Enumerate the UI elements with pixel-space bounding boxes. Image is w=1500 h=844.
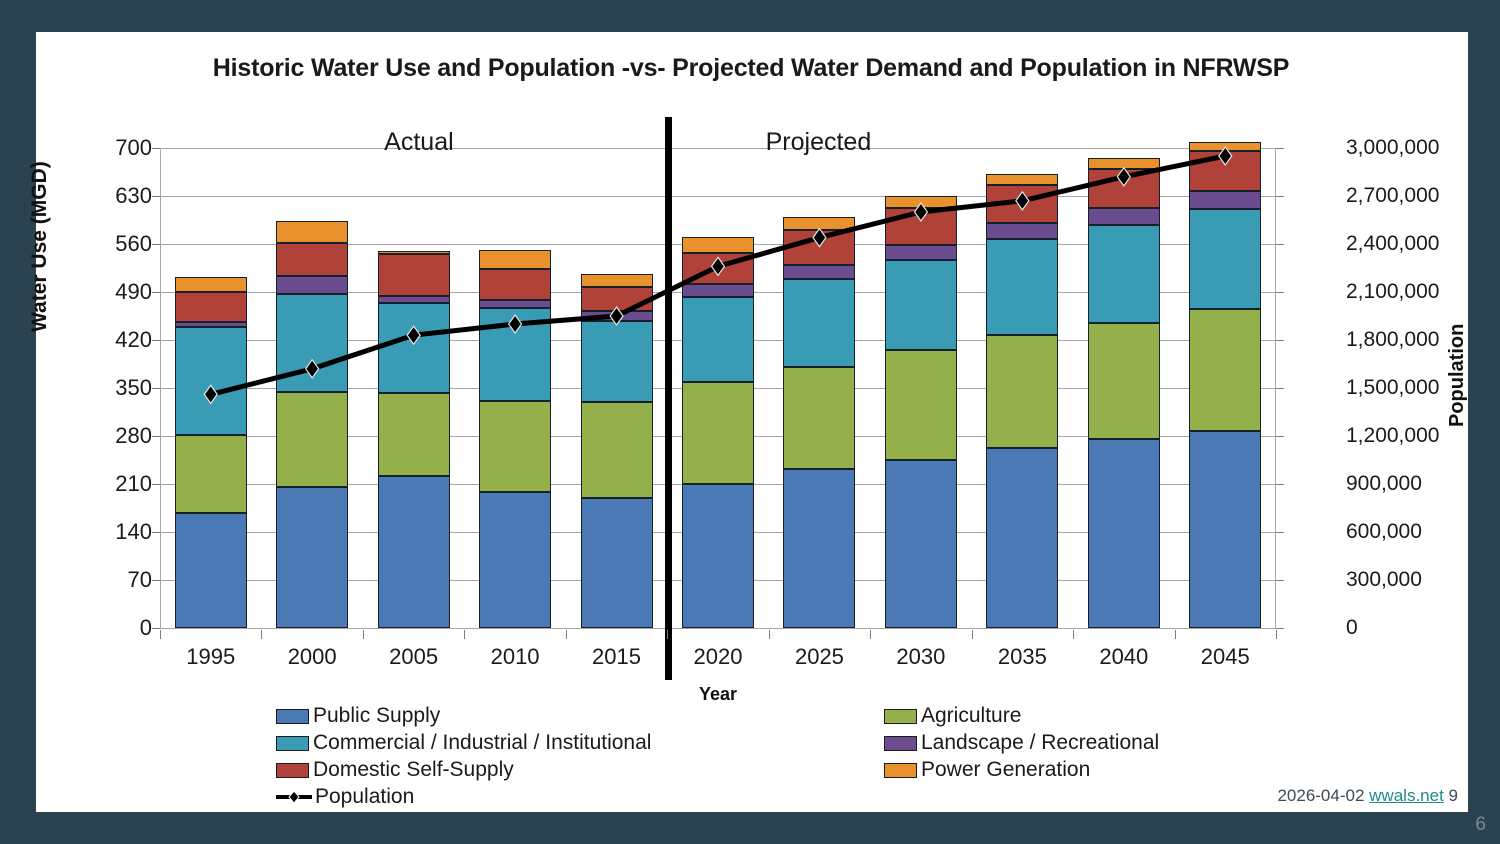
y2-tick-mark xyxy=(1276,292,1284,293)
y2-tick-mark xyxy=(1276,580,1284,581)
y-tick-label: 0 xyxy=(140,615,152,641)
population-marker xyxy=(306,360,319,378)
y2-tick-label: 1,500,000 xyxy=(1346,376,1439,400)
x-tick-label: 2025 xyxy=(795,644,844,670)
y2-tick-mark xyxy=(1276,436,1284,437)
legend-item[interactable]: Power Generation xyxy=(884,758,1090,782)
band-label-projected: Projected xyxy=(766,128,872,157)
y2-tick-mark xyxy=(1276,628,1284,629)
y2-tick-mark xyxy=(1276,340,1284,341)
y2-tick-label: 900,000 xyxy=(1346,472,1422,496)
y2-tick-mark xyxy=(1276,148,1284,149)
legend-swatch-icon xyxy=(276,736,309,751)
population-marker xyxy=(813,229,826,247)
legend-label: Agriculture xyxy=(921,704,1021,728)
x-tick-label: 2045 xyxy=(1201,644,1250,670)
legend-item[interactable]: Public Supply xyxy=(276,704,440,728)
y-tick-mark xyxy=(152,388,160,389)
population-marker xyxy=(712,257,725,275)
y2-tick-mark xyxy=(1276,196,1284,197)
y-tick-mark xyxy=(152,484,160,485)
y-tick-label: 420 xyxy=(115,327,152,353)
y2-tick-label: 1,800,000 xyxy=(1346,328,1439,352)
legend-swatch-icon xyxy=(276,763,309,778)
x-tick-label: 2040 xyxy=(1099,644,1148,670)
x-tick-mark xyxy=(769,630,770,639)
x-tick-mark xyxy=(667,630,668,639)
population-marker xyxy=(204,385,217,403)
population-marker xyxy=(407,326,420,344)
x-tick-mark xyxy=(870,630,871,639)
legend-label: Population xyxy=(315,785,414,809)
y2-tick-mark xyxy=(1276,484,1284,485)
population-line xyxy=(160,148,1276,628)
y-axis-left-ticks: 070140210280350420490560630700 xyxy=(82,148,152,628)
legend-swatch-icon xyxy=(884,736,917,751)
x-tick-mark xyxy=(464,630,465,639)
y-tick-mark xyxy=(152,244,160,245)
y2-tick-mark xyxy=(1276,532,1284,533)
y-tick-label: 630 xyxy=(115,183,152,209)
actual-projected-divider xyxy=(665,117,672,680)
x-tick-label: 2035 xyxy=(998,644,1047,670)
y2-tick-mark xyxy=(1276,244,1284,245)
legend-swatch-icon xyxy=(276,709,309,724)
legend-swatch-icon xyxy=(884,763,917,778)
y-tick-mark xyxy=(152,628,160,629)
x-tick-mark xyxy=(1073,630,1074,639)
y-tick-mark xyxy=(152,196,160,197)
population-marker xyxy=(1219,147,1232,165)
x-tick-label: 2005 xyxy=(389,644,438,670)
y-axis-title: Water Use (MGD) xyxy=(28,161,52,332)
legend-item[interactable]: Population xyxy=(276,785,414,809)
legend-item[interactable]: Agriculture xyxy=(884,704,1021,728)
x-tick-mark xyxy=(972,630,973,639)
y2-tick-label: 3,000,000 xyxy=(1346,136,1439,160)
y-tick-mark xyxy=(152,532,160,533)
gridline xyxy=(160,628,1276,629)
y-tick-label: 350 xyxy=(115,375,152,401)
population-marker xyxy=(610,307,623,325)
legend-label: Landscape / Recreational xyxy=(921,731,1159,755)
y-tick-mark xyxy=(152,292,160,293)
legend-label: Power Generation xyxy=(921,758,1090,782)
x-tick-mark xyxy=(160,630,161,639)
y-tick-label: 700 xyxy=(115,135,152,161)
footer-page-number: 9 xyxy=(1449,786,1458,805)
x-tick-mark xyxy=(1276,630,1277,639)
legend-item[interactable]: Commercial / Industrial / Institutional xyxy=(276,731,651,755)
y-tick-label: 140 xyxy=(115,519,152,545)
legend-line-marker-icon xyxy=(276,789,312,805)
legend-label: Domestic Self-Supply xyxy=(313,758,514,782)
y2-tick-mark xyxy=(1276,388,1284,389)
legend-item[interactable]: Landscape / Recreational xyxy=(884,731,1159,755)
band-label-actual: Actual xyxy=(384,128,453,157)
y2-tick-label: 2,400,000 xyxy=(1346,232,1439,256)
slide-number: 6 xyxy=(1475,814,1486,836)
x-tick-mark xyxy=(1175,630,1176,639)
plot-area xyxy=(160,148,1276,628)
population-marker xyxy=(914,203,927,221)
y-tick-label: 490 xyxy=(115,279,152,305)
x-tick-mark xyxy=(566,630,567,639)
footer-credit: 2026-04-02 wwals.net 9 xyxy=(1277,786,1458,806)
x-tick-mark xyxy=(261,630,262,639)
y-tick-mark xyxy=(152,340,160,341)
x-axis: 1995200020052010201520202025203020352040… xyxy=(160,630,1276,690)
y2-tick-label: 2,100,000 xyxy=(1346,280,1439,304)
x-tick-mark xyxy=(363,630,364,639)
legend-label: Commercial / Industrial / Institutional xyxy=(313,731,651,755)
y2-tick-label: 600,000 xyxy=(1346,520,1422,544)
chart-legend: Public SupplyAgricultureCommercial / Ind… xyxy=(242,704,1432,804)
y-tick-mark xyxy=(152,580,160,581)
x-axis-title: Year xyxy=(160,684,1276,705)
x-tick-label: 2000 xyxy=(288,644,337,670)
population-marker xyxy=(1117,168,1130,186)
slide-canvas: Historic Water Use and Population -vs- P… xyxy=(0,0,1500,844)
y-tick-label: 560 xyxy=(115,231,152,257)
y2-tick-label: 1,200,000 xyxy=(1346,424,1439,448)
y2-tick-label: 0 xyxy=(1346,616,1358,640)
chart-title: Historic Water Use and Population -vs- P… xyxy=(156,50,1346,87)
footer-date: 2026-04-02 xyxy=(1277,786,1364,805)
slide-content-card: Historic Water Use and Population -vs- P… xyxy=(36,32,1468,812)
x-tick-label: 2010 xyxy=(491,644,540,670)
y-tick-label: 70 xyxy=(128,567,152,593)
x-tick-label: 2015 xyxy=(592,644,641,670)
population-marker xyxy=(1016,192,1029,210)
legend-label: Public Supply xyxy=(313,704,440,728)
wwals-link[interactable]: wwals.net xyxy=(1369,786,1444,805)
y-tick-mark xyxy=(152,148,160,149)
population-marker xyxy=(509,315,522,333)
legend-item[interactable]: Domestic Self-Supply xyxy=(276,758,514,782)
y-tick-label: 210 xyxy=(115,471,152,497)
x-tick-label: 2020 xyxy=(694,644,743,670)
y2-tick-label: 300,000 xyxy=(1346,568,1422,592)
y2-tick-label: 2,700,000 xyxy=(1346,184,1439,208)
y-axis-right-ticks: 0300,000600,000900,0001,200,0001,500,000… xyxy=(1346,148,1496,628)
y-tick-mark xyxy=(152,436,160,437)
legend-swatch-icon xyxy=(884,709,917,724)
x-tick-label: 1995 xyxy=(186,644,235,670)
x-tick-label: 2030 xyxy=(896,644,945,670)
y-tick-label: 280 xyxy=(115,423,152,449)
